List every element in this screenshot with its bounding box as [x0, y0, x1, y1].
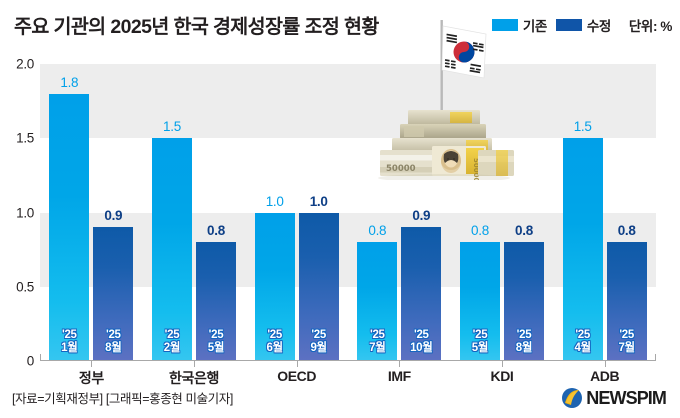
bar-date-month: 5월: [472, 342, 488, 355]
bar-date-month: 7월: [369, 342, 385, 355]
bar-date-month: 8월: [516, 342, 532, 355]
bar-value-label: 0.8: [207, 223, 225, 238]
y-axis-tick-1: 1.5: [0, 131, 34, 146]
chart-legend: 기존 수정 단위: %: [492, 15, 672, 35]
y-axis-tick-2: 1.0: [0, 205, 34, 220]
bar-value-label: 0.9: [104, 208, 122, 223]
bar-ADB-수정[interactable]: 0.8'257월: [607, 242, 647, 361]
bar-value-label: 0.8: [515, 223, 533, 238]
category-label-IMF: IMF: [348, 368, 451, 384]
bar-group-ADB: 1.5'254월0.8'257월: [553, 64, 656, 361]
bar-fill: [49, 94, 89, 361]
axis-cap-left: [40, 354, 41, 361]
bar-date-label: '258월: [105, 329, 121, 355]
bar-한국은행-수정[interactable]: 0.8'255월: [196, 242, 236, 361]
bar-OECD-수정[interactable]: 1.0'259월: [299, 213, 339, 362]
axis-cap-right: [655, 354, 656, 361]
bar-date-year: '25: [61, 329, 77, 342]
newspim-logo: NEWSPIM: [561, 387, 666, 409]
bar-date-month: 10월: [410, 342, 432, 355]
legend-label-prev: 기존: [523, 15, 547, 35]
bar-date-year: '25: [164, 329, 180, 342]
bar-date-month: 2월: [164, 342, 180, 355]
bar-date-label: '259월: [310, 329, 326, 355]
bar-date-month: 8월: [105, 342, 121, 355]
category-label-한국은행: 한국은행: [143, 368, 246, 388]
bar-date-label: '255월: [208, 329, 224, 355]
bar-date-label: '255월: [472, 329, 488, 355]
bar-group-IMF: 0.8'257월0.9'2510월: [348, 64, 451, 361]
bar-value-label: 0.8: [471, 223, 489, 238]
category-label-ADB: ADB: [553, 368, 656, 384]
bar-정부-수정[interactable]: 0.9'258월: [93, 227, 133, 361]
category-label-OECD: OECD: [245, 368, 348, 384]
y-axis-tick-0: 2.0: [0, 57, 34, 72]
bar-fill: [152, 138, 192, 361]
category-label-KDI: KDI: [451, 368, 554, 384]
legend-swatch-prev: [492, 19, 518, 31]
newspim-wordmark: NEWSPIM: [586, 388, 666, 409]
y-axis-labels: 2.01.51.00.50: [0, 64, 34, 361]
bar-정부-기존[interactable]: 1.8'251월: [49, 94, 89, 361]
newspim-mark-icon: [561, 387, 583, 409]
bar-value-label: 1.0: [266, 194, 284, 209]
x-axis-line: [40, 360, 656, 361]
bar-IMF-수정[interactable]: 0.9'2510월: [401, 227, 441, 361]
bar-value-label: 1.0: [310, 194, 328, 209]
bar-date-month: 1월: [61, 342, 77, 355]
category-tick: [91, 361, 92, 367]
category-tick: [297, 361, 298, 367]
plot-area: 1.8'251월0.9'258월1.5'252월0.8'255월1.0'256월…: [40, 64, 656, 361]
bar-group-한국은행: 1.5'252월0.8'255월: [143, 64, 246, 361]
bar-value-label: 1.5: [163, 119, 181, 134]
bar-date-label: '257월: [618, 329, 634, 355]
bar-date-year: '25: [574, 329, 590, 342]
bar-date-label: '252월: [164, 329, 180, 355]
bar-IMF-기존[interactable]: 0.8'257월: [357, 242, 397, 361]
bar-OECD-기존[interactable]: 1.0'256월: [255, 213, 295, 362]
bar-date-label: '251월: [61, 329, 77, 355]
bar-date-year: '25: [266, 329, 282, 342]
legend-label-revised: 수정: [587, 15, 611, 35]
bar-date-year: '25: [516, 329, 532, 342]
source-credit: [자료=기획재정부] [그래픽=홍종현 미술기자]: [12, 388, 233, 407]
bar-pair: 1.5'254월0.8'257월: [553, 64, 656, 361]
bar-date-year: '25: [618, 329, 634, 342]
legend-swatch-revised: [556, 19, 582, 31]
bar-date-label: '254월: [574, 329, 590, 355]
bar-pair: 1.8'251월0.9'258월: [40, 64, 143, 361]
bar-group-정부: 1.8'251월0.9'258월: [40, 64, 143, 361]
bar-value-label: 0.8: [368, 223, 386, 238]
bar-pair: 1.0'256월1.0'259월: [245, 64, 348, 361]
bar-date-year: '25: [369, 329, 385, 342]
bar-date-year: '25: [472, 329, 488, 342]
legend-item-prev: 기존: [492, 15, 547, 35]
y-axis-tick-3: 0.5: [0, 279, 34, 294]
category-tick: [605, 361, 606, 367]
bar-date-month: 9월: [310, 342, 326, 355]
bar-date-label: '256월: [266, 329, 282, 355]
category-tick: [502, 361, 503, 367]
bar-date-label: '2510월: [410, 329, 432, 355]
bar-date-label: '258월: [516, 329, 532, 355]
bar-fill: [563, 138, 603, 361]
bar-pair: 1.5'252월0.8'255월: [143, 64, 246, 361]
bar-pair: 0.8'255월0.8'258월: [451, 64, 554, 361]
bar-date-month: 7월: [618, 342, 634, 355]
y-axis-tick-4: 0: [0, 354, 34, 369]
bar-value-label: 1.8: [60, 75, 78, 90]
category-tick: [399, 361, 400, 367]
bar-group-OECD: 1.0'256월1.0'259월: [245, 64, 348, 361]
bar-value-label: 1.5: [574, 119, 592, 134]
category-tick: [194, 361, 195, 367]
bar-한국은행-기존[interactable]: 1.5'252월: [152, 138, 192, 361]
bar-KDI-수정[interactable]: 0.8'258월: [504, 242, 544, 361]
bar-value-label: 0.9: [412, 208, 430, 223]
bar-ADB-기존[interactable]: 1.5'254월: [563, 138, 603, 361]
bar-date-year: '25: [410, 329, 432, 342]
bar-date-month: 6월: [266, 342, 282, 355]
bar-pair: 0.8'257월0.9'2510월: [348, 64, 451, 361]
bar-date-year: '25: [208, 329, 224, 342]
legend-item-revised: 수정: [556, 15, 611, 35]
bar-date-label: '257월: [369, 329, 385, 355]
chart-page: 주요 기관의 2025년 한국 경제성장률 조정 현황 기존 수정 단위: % …: [0, 0, 680, 418]
bar-date-year: '25: [310, 329, 326, 342]
category-label-정부: 정부: [40, 368, 143, 388]
bar-KDI-기존[interactable]: 0.8'255월: [460, 242, 500, 361]
bar-date-month: 4월: [574, 342, 590, 355]
bar-group-KDI: 0.8'255월0.8'258월: [451, 64, 554, 361]
bar-date-month: 5월: [208, 342, 224, 355]
bar-value-label: 0.8: [618, 223, 636, 238]
unit-label: 단위: %: [629, 15, 672, 35]
bar-date-year: '25: [105, 329, 121, 342]
page-title: 주요 기관의 2025년 한국 경제성장률 조정 현황: [14, 10, 379, 39]
